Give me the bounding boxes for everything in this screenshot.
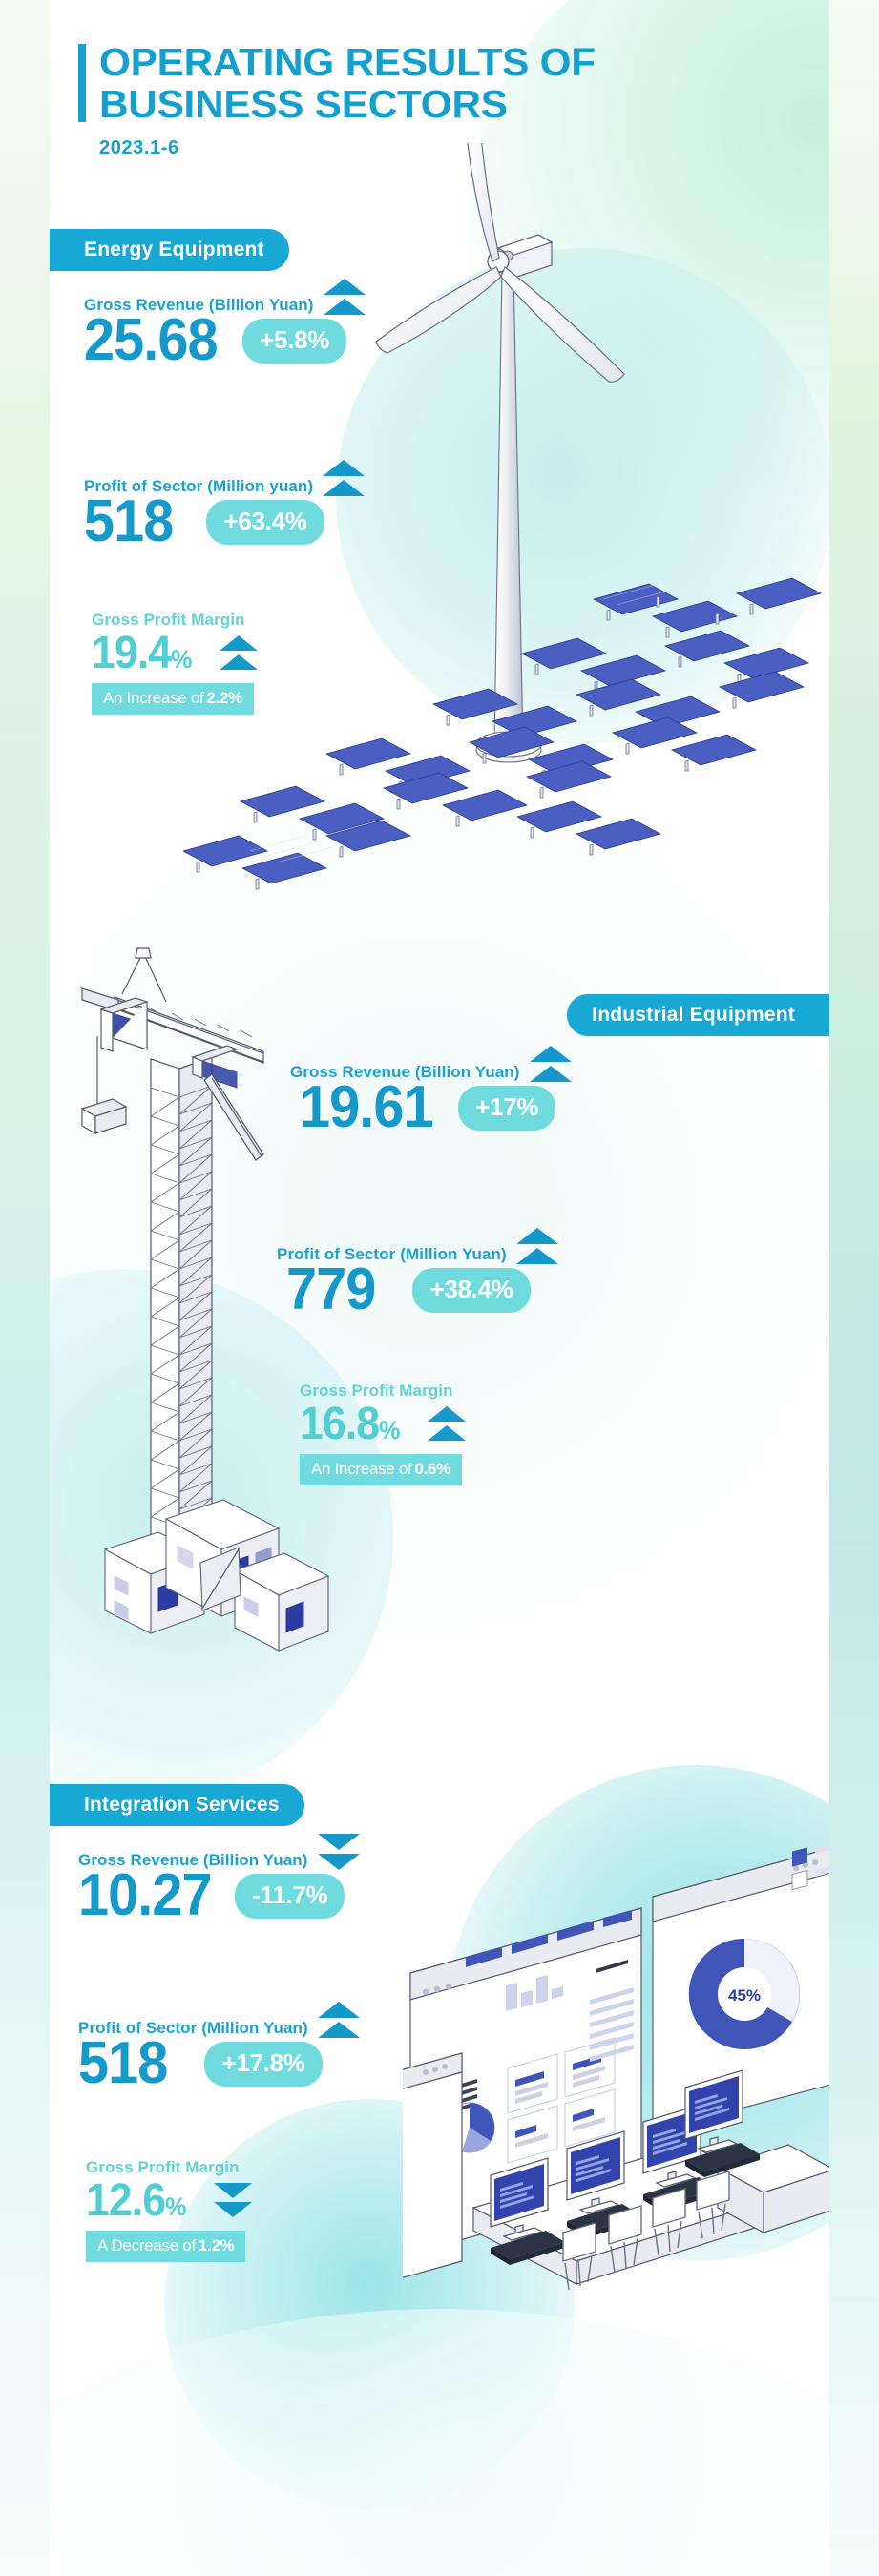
section-header-energy-equipment: Energy Equipment: [50, 229, 289, 271]
arrow-up-double-icon: [318, 2002, 360, 2038]
metric-industrial-gross-revenue: Gross Revenue (Billion Yuan) 19.61 +17%: [290, 1046, 572, 1136]
metric-value: 16.8%: [300, 1402, 400, 1446]
donut-chart-value: 45%: [728, 1986, 761, 2005]
arrow-up-double-icon: [516, 1228, 558, 1264]
arrow-up-double-icon: [530, 1046, 572, 1082]
metric-integration-gross-margin: Gross Profit Margin 12.6% A Decrease of1…: [86, 2158, 252, 2262]
page-title-line-2: BUSINESS SECTORS: [99, 84, 596, 126]
section-title-integration: Integration Services: [84, 1794, 280, 1817]
arrow-up-double-icon: [428, 1406, 466, 1441]
metric-value-unit: %: [171, 645, 191, 674]
background-wash-bottom: [50, 2309, 829, 2576]
metric-change-badge: +38.4%: [412, 1268, 530, 1313]
metric-value: 19.61: [300, 1080, 433, 1136]
section-header-integration-services: Integration Services: [50, 1784, 304, 1826]
metric-value: 10.27: [78, 1868, 212, 1924]
metric-change-prefix: A Decrease of: [97, 2236, 196, 2255]
section-header-industrial-equipment: Industrial Equipment: [567, 994, 829, 1036]
metric-integration-profit: Profit of Sector (Million Yuan) 518 +17.…: [78, 2002, 360, 2092]
metric-change-value: 1.2%: [199, 2236, 235, 2255]
infographic-canvas: OPERATING RESULTS OF BUSINESS SECTORS 20…: [50, 0, 829, 2576]
metric-value-number: 16.8: [300, 1399, 379, 1449]
metric-value-unit: %: [379, 1416, 399, 1444]
metric-value: 25.68: [84, 313, 218, 369]
infographic-page: OPERATING RESULTS OF BUSINESS SECTORS 20…: [0, 0, 879, 2576]
metric-value-unit: %: [165, 2192, 185, 2221]
metric-integration-gross-revenue: Gross Revenue (Billion Yuan) 10.27 -11.7…: [78, 1834, 360, 1924]
metric-value: 518: [84, 494, 173, 551]
arrow-up-double-icon: [324, 279, 366, 315]
metric-change-badge: +17.8%: [204, 2042, 322, 2087]
metric-change-strip: An Increase of2.2%: [92, 683, 254, 715]
metric-change-strip: A Decrease of1.2%: [86, 2231, 245, 2262]
page-header: OPERATING RESULTS OF BUSINESS SECTORS 20…: [78, 42, 581, 159]
metric-energy-gross-revenue: Gross Revenue (Billion Yuan) 25.68 +5.8%: [84, 279, 366, 369]
section-title-industrial: Industrial Equipment: [592, 1004, 795, 1027]
arrow-down-double-icon: [214, 2183, 252, 2217]
metric-change-strip: An Increase of0.6%: [300, 1454, 462, 1485]
metric-change-badge: +63.4%: [206, 500, 324, 545]
metric-value: 779: [286, 1262, 375, 1319]
arrow-up-double-icon: [323, 460, 365, 496]
metric-change-prefix: An Increase of: [103, 689, 203, 708]
control-room-illustration: 45%: [403, 1813, 829, 2347]
metric-change-badge: -11.7%: [235, 1874, 345, 1919]
arrow-down-double-icon: [318, 1834, 360, 1870]
right-edge-gradient-strip: [829, 0, 879, 2576]
metric-value: 19.4%: [92, 632, 192, 675]
metric-energy-profit: Profit of Sector (Million yuan) 518 +63.…: [84, 460, 365, 551]
metric-industrial-gross-margin: Gross Profit Margin 16.8% An Increase of…: [300, 1381, 466, 1485]
metric-industrial-profit: Profit of Sector (Million Yuan) 779 +38.…: [277, 1228, 558, 1319]
metric-value-number: 19.4: [92, 628, 171, 678]
arrow-up-double-icon: [220, 635, 258, 670]
page-title-line-1: OPERATING RESULTS OF: [99, 42, 596, 84]
metric-label: Gross Profit Margin: [92, 611, 258, 630]
metric-change-badge: +5.8%: [242, 319, 346, 364]
metric-value: 518: [78, 2036, 167, 2092]
section-title-energy: Energy Equipment: [84, 239, 264, 261]
metric-label: Gross Profit Margin: [300, 1381, 466, 1401]
metric-change-value: 2.2%: [206, 689, 242, 708]
metric-energy-gross-margin: Gross Profit Margin 19.4% An Increase of…: [92, 611, 258, 715]
metric-change-badge: +17%: [458, 1086, 555, 1131]
title-accent-rule: [78, 44, 86, 122]
metric-value-number: 12.6: [86, 2175, 165, 2226]
metric-label: Gross Profit Margin: [86, 2158, 252, 2177]
report-period: 2023.1-6: [99, 137, 581, 159]
metric-change-value: 0.6%: [414, 1460, 450, 1479]
metric-change-prefix: An Increase of: [311, 1460, 411, 1479]
metric-value: 12.6%: [86, 2179, 186, 2223]
left-edge-gradient-strip: [0, 0, 50, 2576]
